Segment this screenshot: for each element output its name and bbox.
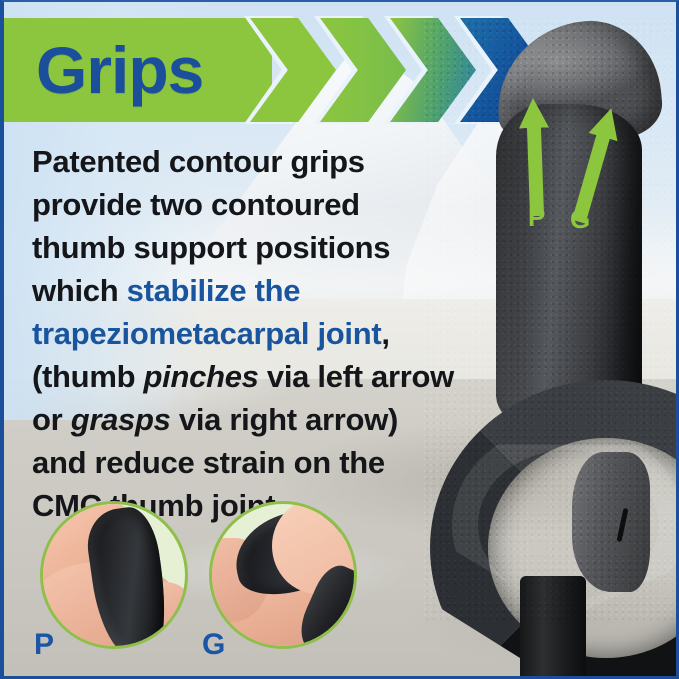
grip-collar <box>572 452 650 592</box>
page-title: Grips <box>36 34 203 106</box>
copy-line-8: and reduce strain on the <box>32 445 385 480</box>
copy-line-7-b: via right arrow) <box>171 402 398 437</box>
copy-line-5-highlight: trapeziometacarpal joint <box>32 316 381 351</box>
copy-line-1: Patented contour grips <box>32 144 365 179</box>
pinch-thumbnail <box>40 501 188 649</box>
product-info-graphic: Grips Patented contour grips provide two… <box>0 0 679 679</box>
copy-line-7-italic: grasps <box>71 402 171 437</box>
cane-grip-photo: P G <box>424 20 679 679</box>
copy-line-5-plain: , <box>381 316 389 351</box>
cane-shaft <box>520 576 586 679</box>
grasp-thumbnail <box>209 501 357 649</box>
grip-arrow-label-p: P <box>528 202 545 233</box>
copy-line-2: provide two contoured <box>32 187 360 222</box>
pinch-hand-photo <box>43 504 185 646</box>
grasp-thumbnail-label: G <box>202 628 225 662</box>
copy-line-4-plain: which <box>32 273 127 308</box>
copy-line-3: thumb support positions <box>32 230 390 265</box>
grasp-hand-photo <box>212 504 354 646</box>
copy-line-6-italic: pinches <box>144 359 259 394</box>
copy-line-4-highlight: stabilize the <box>127 273 301 308</box>
copy-line-6-a: (thumb <box>32 359 144 394</box>
grip-arrow-label-g: G <box>570 204 590 235</box>
pinch-arrow-icon <box>518 98 552 217</box>
copy-line-7-a: or <box>32 402 71 437</box>
body-copy: Patented contour grips provide two conto… <box>32 140 482 527</box>
pinch-thumbnail-label: P <box>34 628 54 662</box>
